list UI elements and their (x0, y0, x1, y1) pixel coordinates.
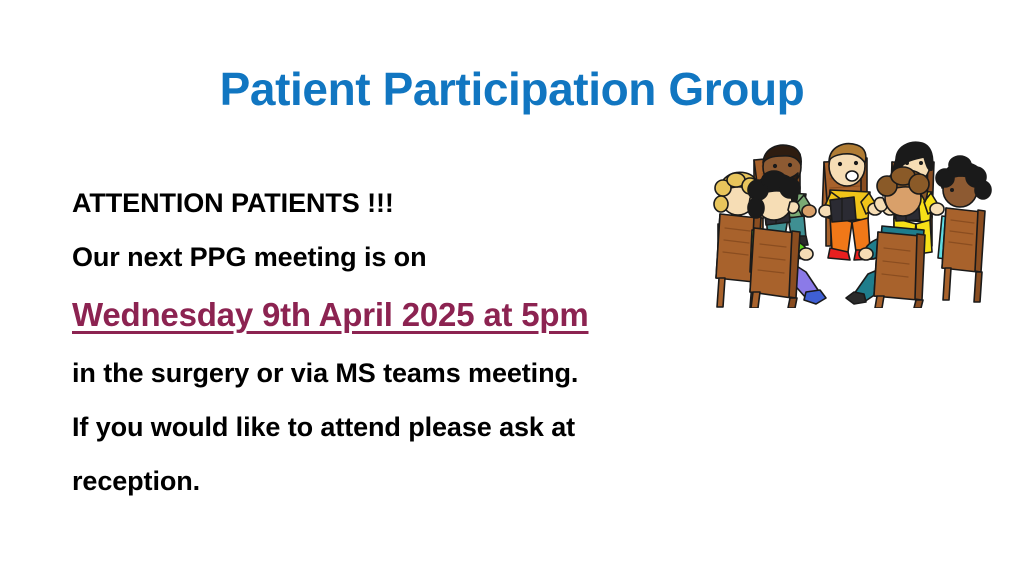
notice-body: ATTENTION PATIENTS !!! Our next PPG meet… (72, 176, 732, 508)
notice-line-attend-1: If you would like to attend please ask a… (72, 400, 732, 454)
notice-line-meeting-datetime: Wednesday 9th April 2025 at 5pm (72, 284, 732, 346)
poster-canvas: Patient Participation Group ATTENTION PA… (0, 0, 1024, 578)
notice-line-attend-2: reception. (72, 454, 732, 508)
notice-line-location: in the surgery or via MS teams meeting. (72, 346, 732, 400)
notice-line-attention: ATTENTION PATIENTS !!! (72, 176, 732, 230)
notice-line-meeting-intro: Our next PPG meeting is on (72, 230, 732, 284)
chair-front-right-centre (874, 232, 925, 308)
group-meeting-clipart (706, 132, 996, 308)
page-title: Patient Participation Group (0, 62, 1024, 116)
chair-front-left-centre (750, 228, 800, 308)
chair-front-right (942, 208, 985, 302)
